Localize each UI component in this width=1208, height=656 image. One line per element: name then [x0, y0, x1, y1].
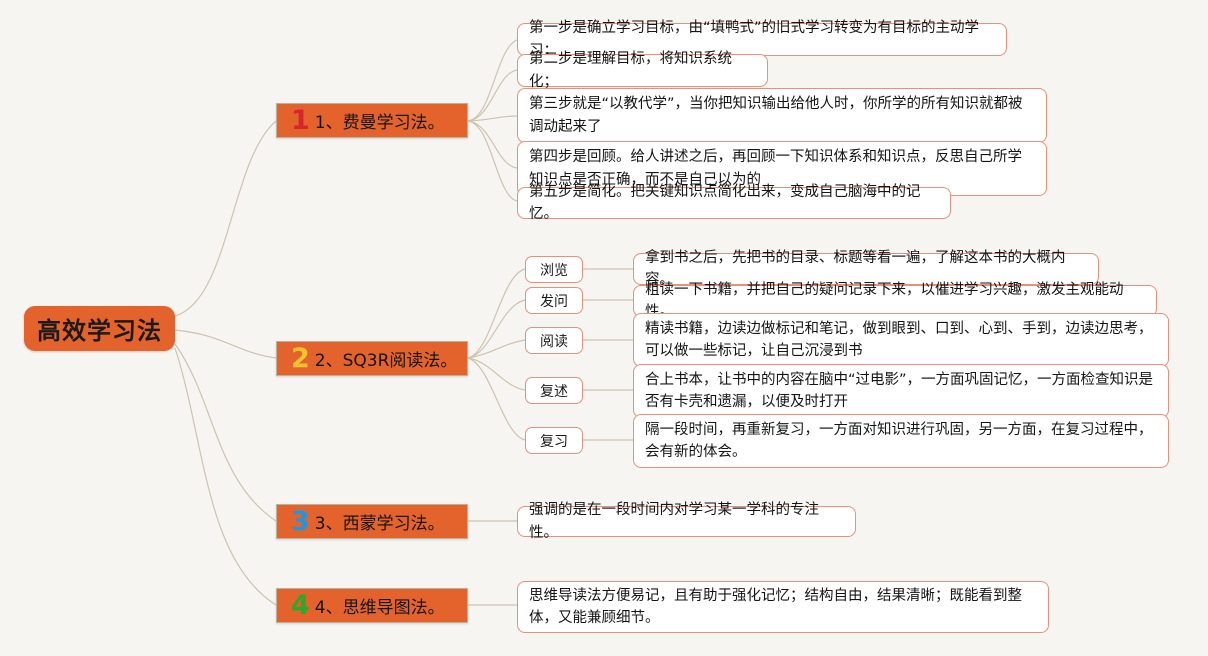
branch-node-simon[interactable]: 3 3、西蒙学习法。 — [276, 504, 468, 539]
leaf-text: 合上书本，让书中的内容在脑中“过电影”，一方面巩固记忆，一方面检查知识是否有卡壳… — [645, 369, 1157, 414]
sublabel-text: 发问 — [540, 291, 568, 311]
sublabel-text: 阅读 — [540, 331, 568, 351]
leaf-text: 精读书籍，边读边做标记和笔记，做到眼到、口到、心到、手到，边读边思考，可以做一些… — [645, 318, 1157, 363]
sublabel-recite[interactable]: 复述 — [525, 377, 583, 404]
leaf-text: 思维导读法方便易记，且有助于强化记忆；结构自由，结果清晰；既能看到整体，又能兼顾… — [529, 585, 1037, 630]
sublabel-text: 浏览 — [540, 260, 568, 280]
branch-label-2: 2、SQ3R阅读法。 — [315, 346, 458, 371]
branch-label-1: 1、费曼学习法。 — [315, 108, 445, 133]
sublabel-question[interactable]: 发问 — [525, 287, 583, 314]
leaf-box[interactable]: 强调的是在一段时间内对学习某一学科的专注性。 — [517, 506, 856, 537]
branch-node-mindmap[interactable]: 4 4、思维导图法。 — [276, 588, 468, 623]
leaf-text: 第二步是理解目标，将知识系统化； — [529, 48, 756, 93]
central-topic-label: 高效学习法 — [37, 311, 162, 346]
branch-label-4: 4、思维导图法。 — [315, 593, 445, 618]
branch-node-sq3r[interactable]: 2 2、SQ3R阅读法。 — [276, 341, 468, 376]
leaf-box[interactable]: 第五步是简化。把关键知识点简化出来，变成自己脑海中的记忆。 — [517, 187, 951, 219]
branch-label-3: 3、西蒙学习法。 — [315, 509, 445, 534]
branch-number-1: 1 — [291, 107, 310, 134]
leaf-box[interactable]: 第二步是理解目标，将知识系统化； — [517, 54, 768, 87]
leaf-box[interactable]: 合上书本，让书中的内容在脑中“过电影”，一方面巩固记忆，一方面检查知识是否有卡壳… — [633, 364, 1169, 418]
leaf-box[interactable]: 隔一段时间，再重新复习，一方面对知识进行巩固，另一方面，在复习过程中，会有新的体… — [633, 414, 1169, 468]
sublabel-text: 复习 — [540, 431, 568, 451]
mindmap-canvas: 高效学习法 1 1、费曼学习法。 第一步是确立学习目标，由“填鸭式”的旧式学习转… — [0, 0, 1208, 656]
branch-number-2: 2 — [291, 345, 310, 372]
sublabel-text: 复述 — [540, 381, 568, 401]
leaf-box[interactable]: 思维导读法方便易记，且有助于强化记忆；结构自由，结果清晰；既能看到整体，又能兼顾… — [517, 581, 1049, 633]
leaf-text: 第五步是简化。把关键知识点简化出来，变成自己脑海中的记忆。 — [529, 181, 939, 226]
sublabel-read[interactable]: 阅读 — [525, 327, 583, 354]
branch-number-3: 3 — [291, 508, 310, 535]
sublabel-survey[interactable]: 浏览 — [525, 256, 583, 283]
central-topic-node[interactable]: 高效学习法 — [24, 306, 175, 351]
branch-node-feynman[interactable]: 1 1、费曼学习法。 — [276, 103, 468, 138]
leaf-text: 强调的是在一段时间内对学习某一学科的专注性。 — [529, 499, 844, 544]
branch-number-4: 4 — [291, 592, 310, 619]
leaf-text: 第三步就是“以教代学”，当你把知识输出给他人时，你所学的所有知识就都被调动起来了 — [529, 93, 1035, 138]
leaf-box[interactable]: 第三步就是“以教代学”，当你把知识输出给他人时，你所学的所有知识就都被调动起来了 — [517, 88, 1047, 143]
leaf-box[interactable]: 精读书籍，边读边做标记和笔记，做到眼到、口到、心到、手到，边读边思考，可以做一些… — [633, 313, 1169, 367]
sublabel-review[interactable]: 复习 — [525, 427, 583, 454]
leaf-text: 隔一段时间，再重新复习，一方面对知识进行巩固，另一方面，在复习过程中，会有新的体… — [645, 419, 1157, 464]
